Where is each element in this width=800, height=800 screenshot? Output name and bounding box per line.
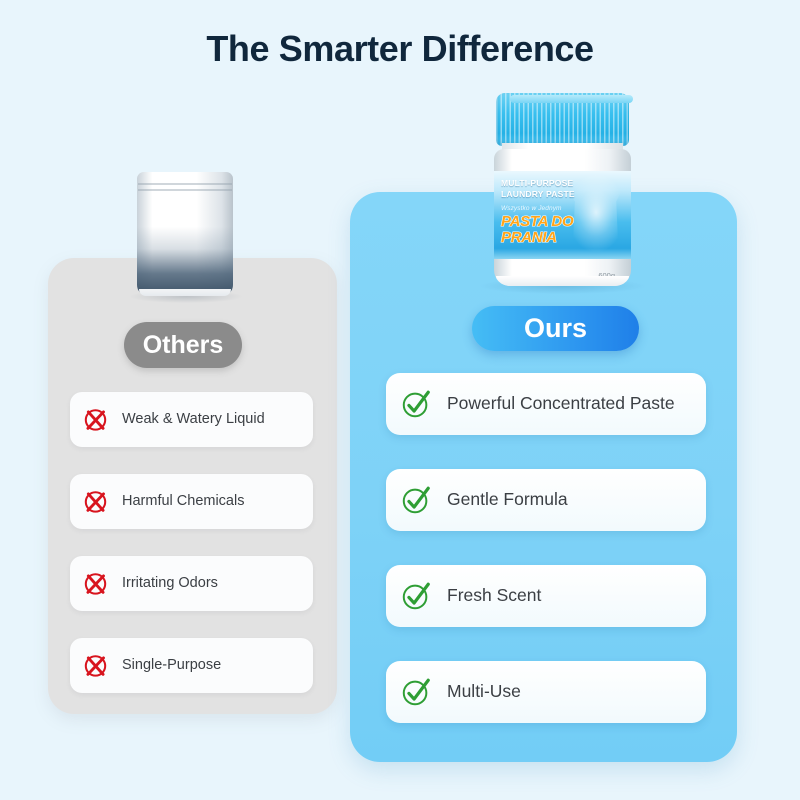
list-item: Powerful Concentrated Paste xyxy=(386,373,706,435)
list-item-label: Harmful Chemicals xyxy=(122,493,244,511)
comparison-infographic: The Smarter Difference Others Weak & Wat… xyxy=(0,0,800,800)
product-jar-cap xyxy=(496,93,629,146)
product-brand-name: PASTA DO PRANIA xyxy=(501,214,573,246)
shirt-graphic-icon xyxy=(567,175,623,253)
competitor-jar-image xyxy=(137,172,233,296)
list-item-label: Gentle Formula xyxy=(447,489,568,510)
red-x-circle-icon xyxy=(82,488,109,515)
competitor-jar-rim-top xyxy=(138,183,232,185)
product-tagline: Wszystko w Jednym xyxy=(501,205,562,212)
list-item: Fresh Scent xyxy=(386,565,706,627)
green-check-circle-icon xyxy=(400,580,432,612)
list-item-label: Irritating Odors xyxy=(122,575,218,593)
list-item-label: Weak & Watery Liquid xyxy=(122,411,265,429)
list-item-label: Single-Purpose xyxy=(122,657,221,675)
others-feature-list: Weak & Watery Liquid Harmful Chemicals I… xyxy=(70,392,313,693)
red-x-circle-icon xyxy=(82,652,109,679)
others-badge-label: Others xyxy=(143,331,224,360)
others-badge: Others xyxy=(124,322,242,368)
list-item: Weak & Watery Liquid xyxy=(70,392,313,447)
green-check-circle-icon xyxy=(400,388,432,420)
list-item-label: Fresh Scent xyxy=(447,585,541,606)
product-label-line1: MULTI-PURPOSE xyxy=(501,178,575,189)
list-item: Irritating Odors xyxy=(70,556,313,611)
ours-badge-label: Ours xyxy=(524,313,587,344)
product-brand-line2: PRANIA xyxy=(501,230,573,246)
red-x-circle-icon xyxy=(82,570,109,597)
list-item: Single-Purpose xyxy=(70,638,313,693)
list-item-label: Powerful Concentrated Paste xyxy=(447,393,675,414)
product-jar-base xyxy=(496,276,629,286)
page-title: The Smarter Difference xyxy=(0,28,800,70)
product-label-line2: LAUNDRY PASTE xyxy=(501,189,575,200)
ours-feature-list: Powerful Concentrated Paste Gentle Formu… xyxy=(386,373,706,723)
competitor-jar-rim-bottom xyxy=(138,189,232,191)
list-item: Gentle Formula xyxy=(386,469,706,531)
product-jar-body: MULTI-PURPOSE LAUNDRY PASTE Wszystko w J… xyxy=(494,149,631,286)
list-item: Multi-Use xyxy=(386,661,706,723)
green-check-circle-icon xyxy=(400,676,432,708)
green-check-circle-icon xyxy=(400,484,432,516)
red-x-circle-icon xyxy=(82,406,109,433)
product-brand-line1: PASTA DO xyxy=(501,214,573,230)
product-label: MULTI-PURPOSE LAUNDRY PASTE Wszystko w J… xyxy=(494,171,631,259)
list-item-label: Multi-Use xyxy=(447,681,521,702)
product-label-title: MULTI-PURPOSE LAUNDRY PASTE xyxy=(501,178,575,200)
product-jar-cap-top xyxy=(510,95,633,103)
competitor-jar-base xyxy=(139,289,231,296)
ours-badge: Ours xyxy=(472,306,639,351)
list-item: Harmful Chemicals xyxy=(70,474,313,529)
product-jar-image: MULTI-PURPOSE LAUNDRY PASTE Wszystko w J… xyxy=(487,93,638,286)
